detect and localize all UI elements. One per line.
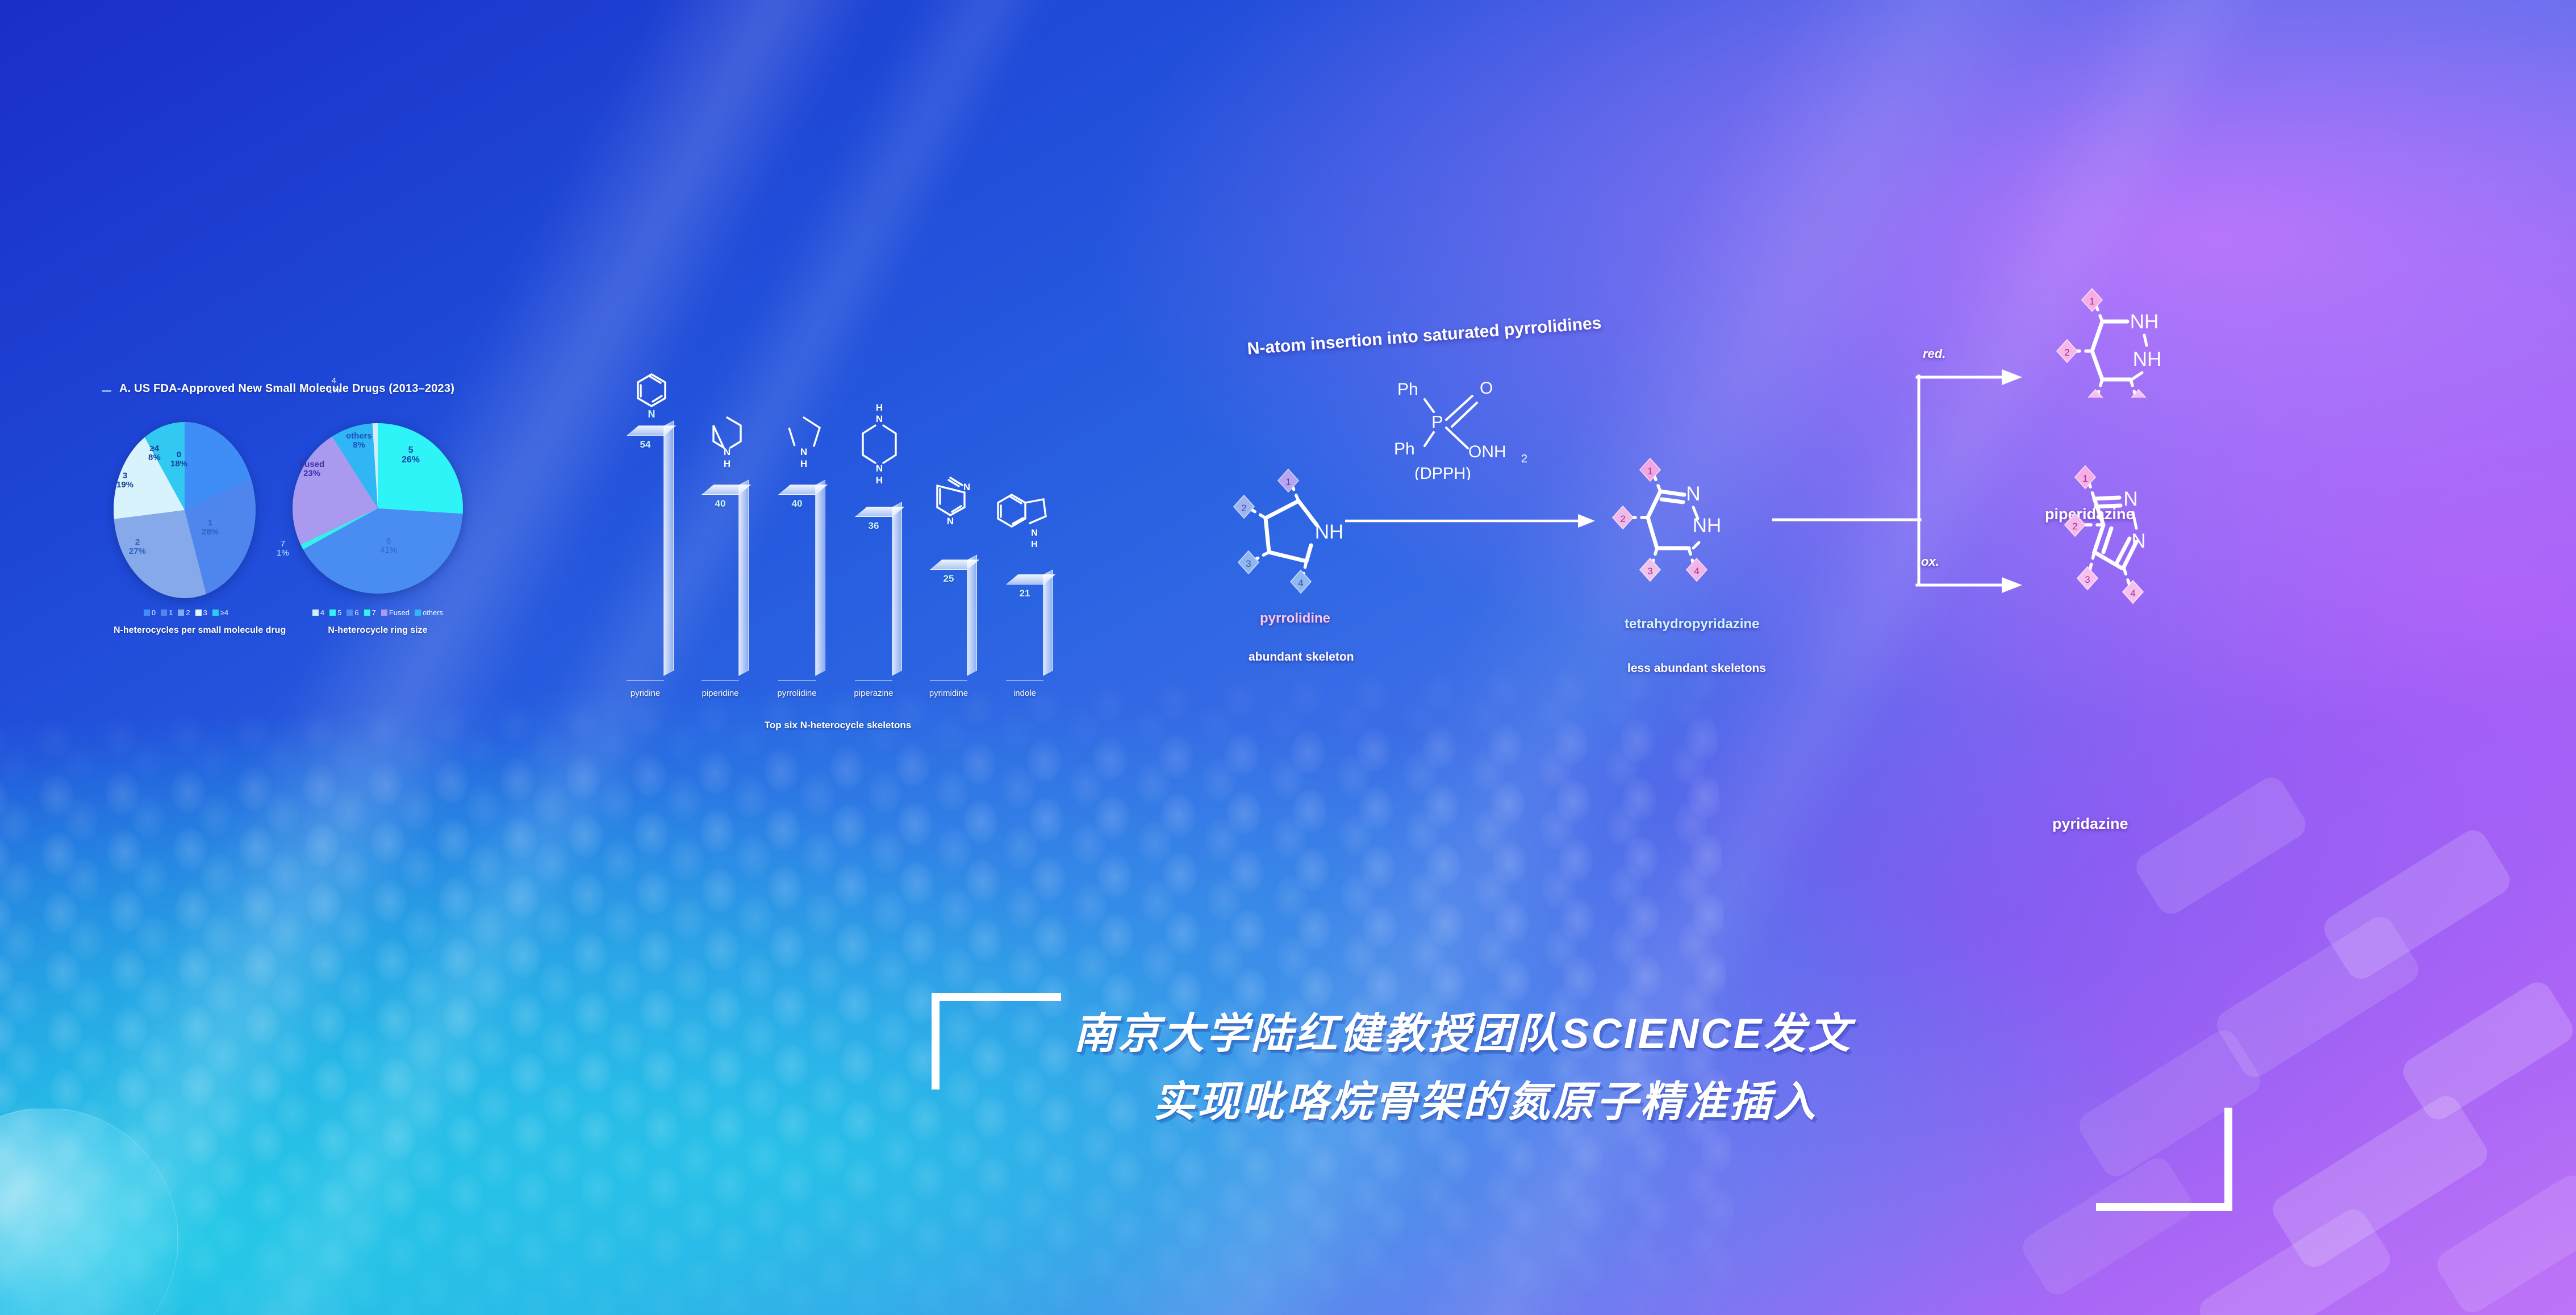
bar-item: 40 piperidine <box>702 490 739 681</box>
product-bottom-name: pyridazine <box>2052 815 2128 833</box>
bar-chart-caption: Top six N-heterocycle skeletons <box>765 720 912 750</box>
svg-text:N: N <box>876 414 883 424</box>
bar-side <box>892 502 902 676</box>
svg-text:4: 4 <box>2130 588 2135 599</box>
svg-text:1: 1 <box>2089 296 2094 307</box>
pie2-slice-label: Fused23% <box>299 460 324 478</box>
svg-text:O: O <box>1480 379 1493 398</box>
bar-side <box>738 479 749 676</box>
branch-connector-arrows <box>1772 347 2068 608</box>
pie2-slice-label: 641% <box>380 537 397 555</box>
pie2-slice-label: 526% <box>402 446 420 465</box>
bar-label: pyrrolidine <box>777 688 816 698</box>
bar-front <box>627 680 664 681</box>
pyridine-structure-icon: N <box>629 370 674 424</box>
deco-tile <box>2432 1170 2576 1315</box>
svg-text:1: 1 <box>1285 477 1291 487</box>
bar-front <box>778 680 816 681</box>
svg-text:4: 4 <box>1694 566 1699 577</box>
pie1-slice-label: 018% <box>170 450 187 469</box>
svg-text:2: 2 <box>1620 514 1625 524</box>
bar-front <box>855 680 892 681</box>
bar-item: 40 pyrrolidine <box>778 490 816 681</box>
indole-structure-icon: N H <box>991 489 1054 563</box>
pyridazine-structure-icon: N N 1 2 3 4 <box>2031 426 2190 613</box>
substrate-note: abundant skeleton <box>1249 650 1354 664</box>
pie2-caption: N-heterocycle ring size <box>287 625 469 636</box>
svg-text:N: N <box>963 482 970 492</box>
svg-text:H: H <box>800 458 807 469</box>
bar-front <box>702 680 739 681</box>
pie2-slice-label: others8% <box>346 432 372 450</box>
svg-text:NH: NH <box>1693 515 1722 537</box>
bar-side <box>1043 569 1053 676</box>
svg-text:ONH: ONH <box>1468 442 1506 461</box>
bar-value: 21 <box>1020 588 1030 599</box>
svg-text:NH: NH <box>2130 311 2159 333</box>
svg-text:2: 2 <box>1521 453 1527 465</box>
svg-text:Ph: Ph <box>1397 380 1418 399</box>
bar-side <box>967 554 977 676</box>
legend-item: ≥4 <box>212 608 228 617</box>
bar-item: 36 piperazine <box>855 512 892 681</box>
bar-front <box>930 680 967 681</box>
svg-text:N: N <box>724 446 730 457</box>
pie2-legend: 4 5 6 7 Fused others <box>287 608 469 617</box>
svg-text:N: N <box>1031 528 1038 538</box>
dpph-label-anchor <box>1407 469 1549 470</box>
reaction-scheme: N-atom insertion into saturated pyrrolid… <box>1199 239 2573 920</box>
svg-text:4: 4 <box>1298 578 1303 588</box>
pyrimidine-structure-icon: N N <box>926 473 975 536</box>
svg-text:1: 1 <box>2082 473 2087 484</box>
svg-text:3: 3 <box>1647 566 1652 577</box>
svg-text:(DPPH): (DPPH) <box>1414 465 1471 480</box>
svg-text:NH: NH <box>1315 521 1344 543</box>
bar-label: pyridine <box>631 688 661 698</box>
piperidine-structure-icon: N H <box>704 413 750 475</box>
pie2-slice-label: 71% <box>277 540 289 558</box>
headline-line-2: 实现吡咯烷骨架的氮原子精准插入 <box>1153 1068 1818 1129</box>
bar-value: 25 <box>943 573 954 585</box>
panel-title: A. US FDA-Approved New Small Molecule Dr… <box>119 382 454 395</box>
headline-block: 南京大学陆红健教授团队SCIENCE发文 实现吡咯烷骨架的氮原子精准插入 <box>932 988 2232 1216</box>
legend-item: 7 <box>364 608 376 617</box>
svg-text:H: H <box>876 475 883 486</box>
legend-item: 4 <box>312 608 324 617</box>
svg-text:N: N <box>947 516 954 527</box>
pie2-slice-label: 41% <box>328 377 340 395</box>
legend-item: 3 <box>195 608 207 617</box>
svg-text:1: 1 <box>1647 466 1652 477</box>
condition-reduction: red. <box>1923 347 1945 361</box>
svg-text:2: 2 <box>1241 503 1246 514</box>
pie1-caption: N-heterocycles per small molecule drug <box>114 625 258 636</box>
poster-canvas: A. US FDA-Approved New Small Molecule Dr… <box>0 0 2576 1315</box>
legend-item: 0 <box>144 608 156 617</box>
svg-text:2: 2 <box>2072 521 2077 532</box>
svg-text:P: P <box>1431 412 1443 432</box>
headline-line-1: 南京大学陆红健教授团队SCIENCE发文 <box>1074 1000 1852 1061</box>
pyrrolidine-substrate-structure-icon: NH 1 2 3 4 <box>1231 466 1368 596</box>
bracket-bottom-right-icon <box>2062 1108 2232 1216</box>
svg-text:2: 2 <box>2064 347 2069 358</box>
intermediate-name: tetrahydropyridazine <box>1625 616 1759 632</box>
pie1-legend: 0 1 2 3 ≥4 <box>114 608 258 617</box>
bar-value: 54 <box>640 439 651 450</box>
svg-text:N: N <box>648 408 656 420</box>
bar-item: 54 pyridine <box>627 431 664 681</box>
legend-item: 6 <box>346 608 358 617</box>
pie-chart-ring-size <box>293 423 463 594</box>
bar-item: 21 indole <box>1006 580 1043 681</box>
deco-tile <box>2398 977 2576 1125</box>
bar-label: piperazine <box>854 688 893 698</box>
pie-charts-panel: A. US FDA-Approved New Small Molecule Dr… <box>99 378 577 730</box>
legend-item: 2 <box>178 608 190 617</box>
bar-label: piperidine <box>702 688 738 698</box>
bar-front <box>1006 680 1043 681</box>
legend-item: Fused <box>381 608 410 617</box>
pyrrolidine-structure-icon: N H <box>781 413 826 475</box>
bar-label: pyrimidine <box>929 688 968 698</box>
bar-side <box>663 420 674 676</box>
svg-text:N: N <box>1686 483 1700 505</box>
svg-text:NH: NH <box>2133 348 2162 370</box>
legend-item: 5 <box>329 608 341 617</box>
bar-value: 40 <box>792 498 803 510</box>
svg-text:3: 3 <box>2085 574 2090 585</box>
svg-text:N: N <box>2131 530 2145 552</box>
bar-value: 40 <box>715 498 726 510</box>
bar-value: 36 <box>869 520 879 532</box>
bar-side <box>815 479 825 676</box>
svg-text:3: 3 <box>2093 397 2098 398</box>
svg-text:H: H <box>876 402 883 413</box>
legend-item: others <box>415 608 443 617</box>
svg-text:N: N <box>2123 488 2137 510</box>
intermediate-note: less abundant skeletons <box>1627 662 1766 675</box>
svg-text:H: H <box>724 458 730 469</box>
bar-label: indole <box>1013 688 1036 698</box>
pie1-slice-label: 128% <box>202 519 219 537</box>
piperazine-structure-icon: H N N H <box>855 400 904 494</box>
condition-oxidation: ox. <box>1921 554 1939 569</box>
pie-chart-heterocycle-count <box>114 422 256 598</box>
svg-text:3: 3 <box>1246 558 1251 569</box>
piperidazine-structure-icon: NH NH 1 2 3 4 <box>2031 199 2190 398</box>
tetrahydropyridazine-structure-icon: N NH 1 2 3 4 <box>1593 446 1735 594</box>
reaction-arrow-main <box>1345 512 1595 529</box>
pie1-slice-label: ≥48% <box>148 444 161 462</box>
dpph-reagent-structure-icon: Ph O Ph P ONH 2 (DPPH) <box>1386 372 1556 480</box>
svg-text:H: H <box>1031 540 1038 549</box>
scheme-heading: N-atom insertion into saturated pyrrolid… <box>1247 314 1602 359</box>
legend-item: 1 <box>161 608 173 617</box>
pie1-slice-label: 319% <box>116 471 133 490</box>
substrate-name: pyrrolidine <box>1260 611 1330 627</box>
svg-text:N: N <box>800 446 807 457</box>
svg-text:N: N <box>876 463 883 474</box>
title-dash-icon <box>102 390 111 392</box>
pie1-slice-label: 227% <box>129 538 146 556</box>
bar-item: 25 pyrimidine <box>930 565 967 681</box>
bar-chart-panel: N N H N H H N <box>616 372 1184 747</box>
svg-text:4: 4 <box>2136 397 2141 398</box>
svg-text:Ph: Ph <box>1394 440 1415 458</box>
